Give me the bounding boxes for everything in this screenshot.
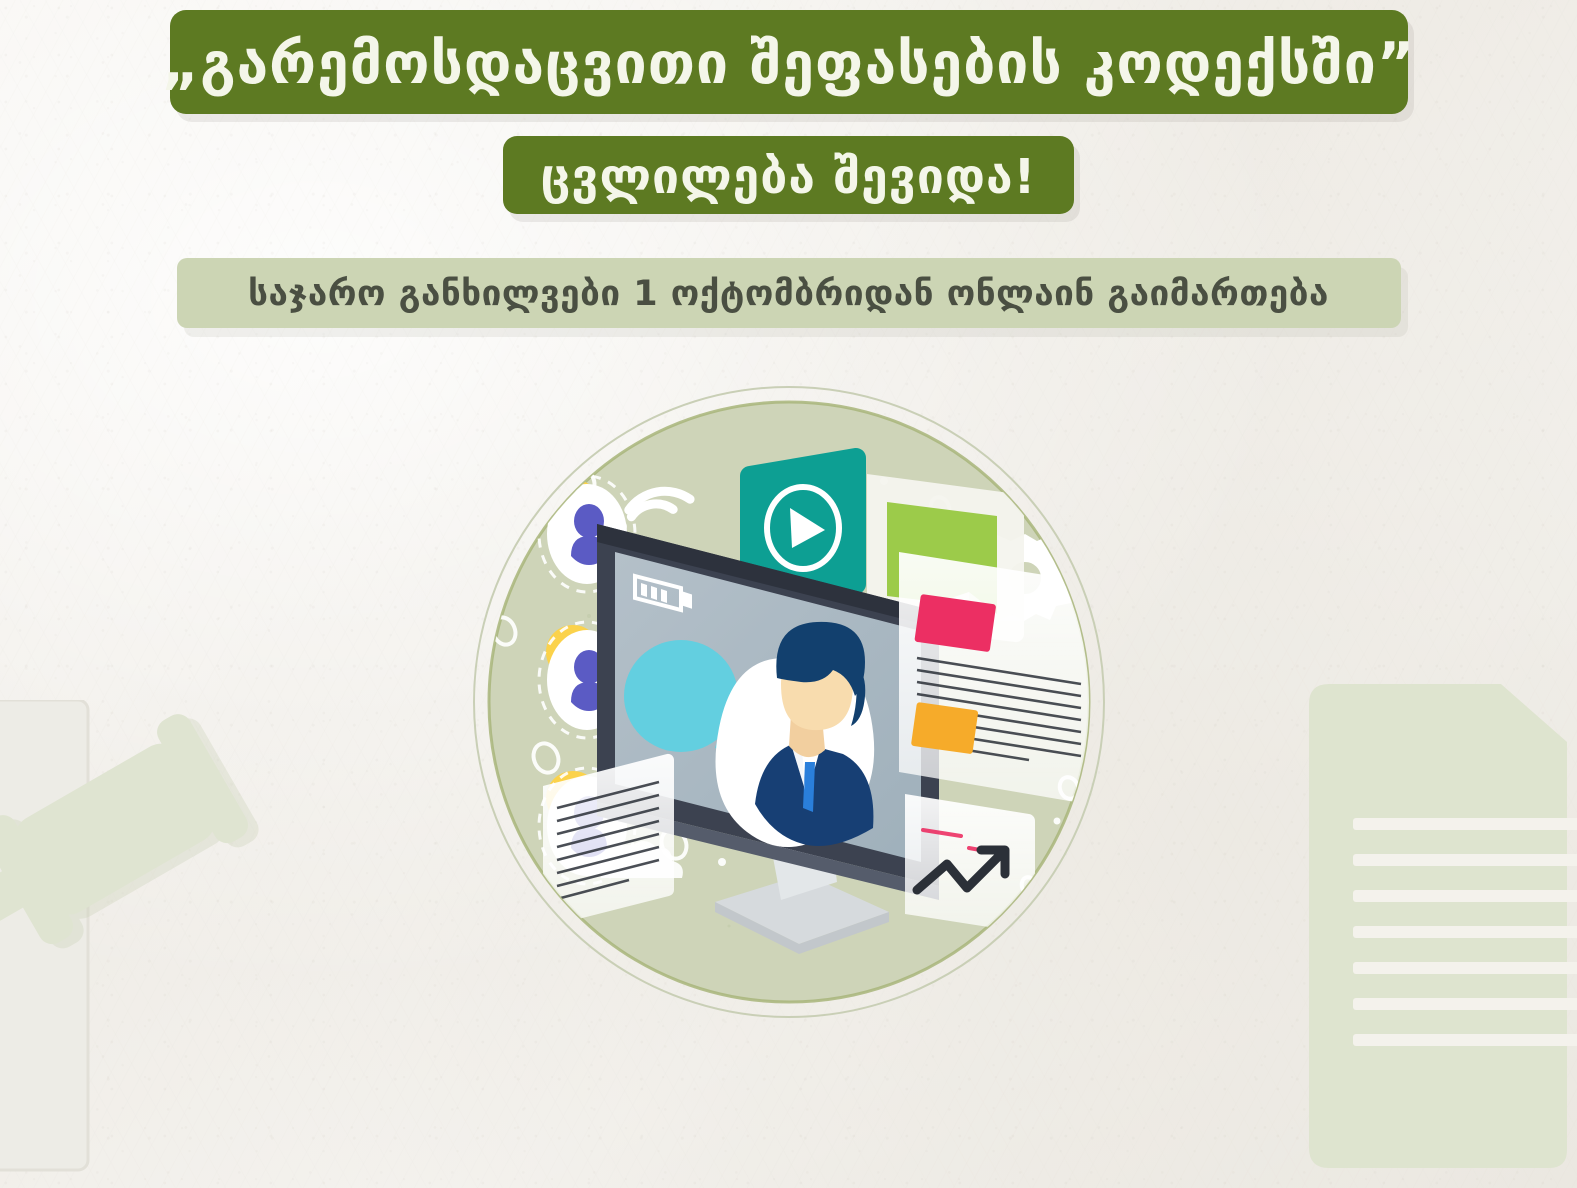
tie xyxy=(803,762,815,812)
gavel-watermark xyxy=(0,708,306,1038)
page-subtitle: ცვლილება შევიდა! xyxy=(541,153,1037,201)
page-title: „გარემოსდაცვითი შეფასების კოდექსში” xyxy=(162,36,1416,93)
paper-watermark xyxy=(0,700,128,1180)
online-public-hearing-illustration xyxy=(469,366,1109,1038)
subtitle-banner-wrap: ცვლილება შევიდა! xyxy=(0,136,1577,214)
doc-card-right-bottom xyxy=(905,794,1035,933)
info-banner-wrap: საჯარო განხილვები 1 ოქტომბრიდან ონლაინ გ… xyxy=(0,258,1577,328)
title-banner: „გარემოსდაცვითი შეფასების კოდექსში” xyxy=(170,10,1408,114)
subtitle-banner: ცვლილება შევიდა! xyxy=(503,136,1074,214)
info-banner: საჯარო განხილვები 1 ოქტომბრიდან ონლაინ გ… xyxy=(177,258,1401,328)
poster-root: „გარემოსდაცვითი შეფასების კოდექსში” ცვლი… xyxy=(0,0,1577,1188)
document-watermark xyxy=(1287,676,1577,1176)
orange-block xyxy=(910,702,978,754)
doc-card-right-top xyxy=(899,552,1096,804)
info-text: საჯარო განხილვები 1 ოქტომბრიდან ონლაინ გ… xyxy=(248,277,1329,312)
title-banner-wrap: „გარემოსდაცვითი შეფასების კოდექსში” xyxy=(0,10,1577,114)
